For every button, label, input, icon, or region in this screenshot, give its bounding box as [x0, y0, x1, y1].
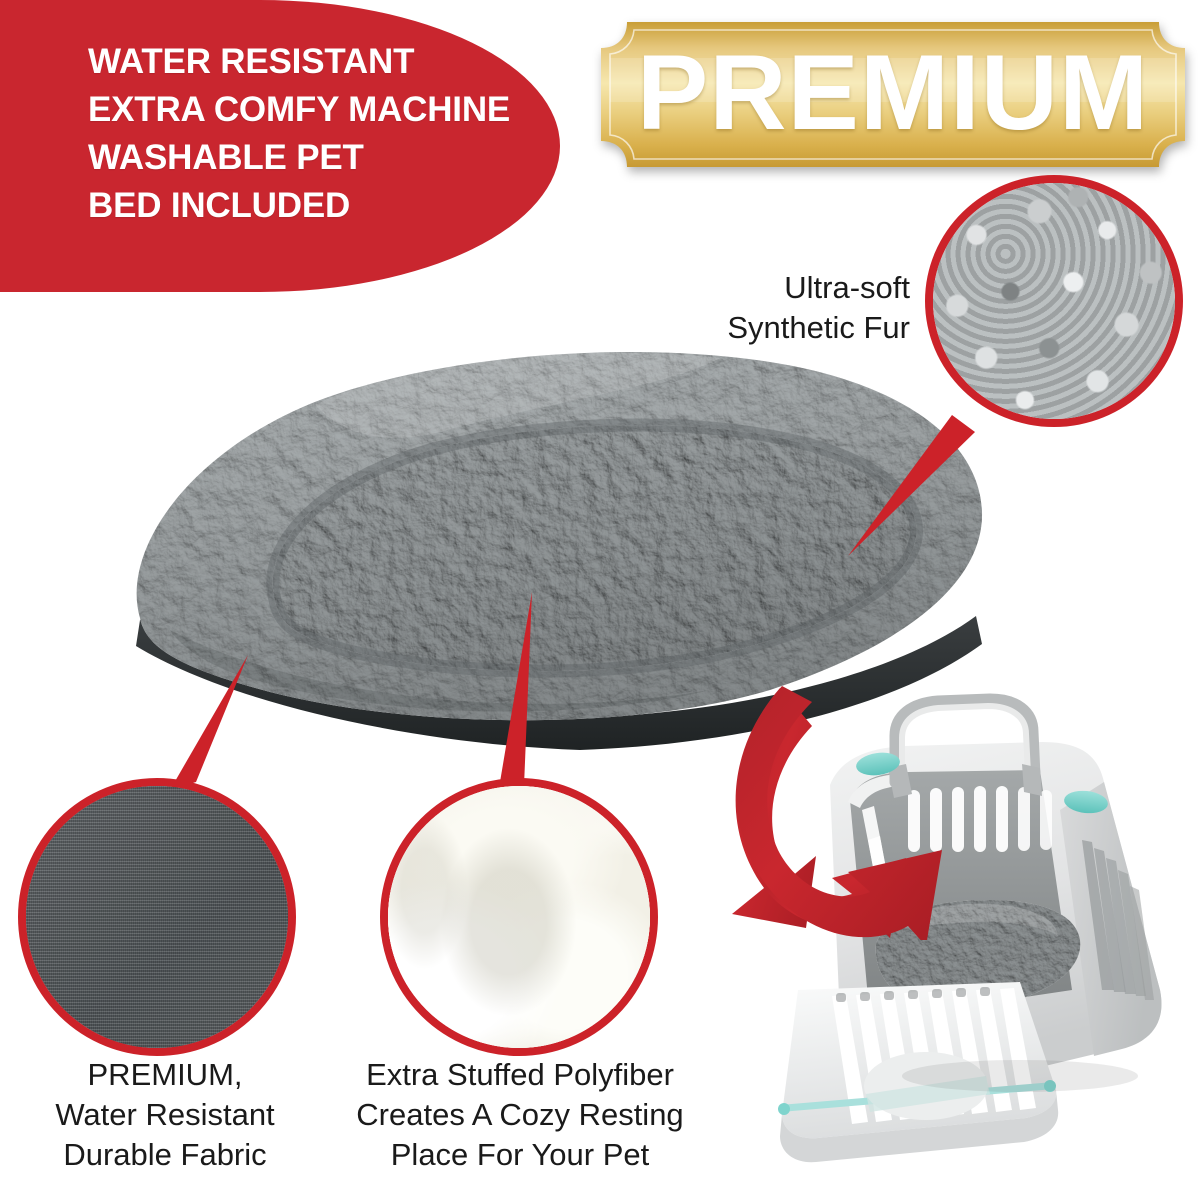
fill-caption-line-2: Creates A Cozy Resting [330, 1095, 710, 1135]
fill-callout-caption: Extra Stuffed Polyfiber Creates A Cozy R… [330, 1055, 710, 1175]
headline-banner-text: WATER RESISTANT EXTRA COMFY MACHINE WASH… [88, 38, 608, 230]
leader-line-fur [848, 415, 975, 556]
leader-line-fill [500, 592, 532, 786]
fabric-callout-caption: PREMIUM, Water Resistant Durable Fabric [0, 1055, 330, 1175]
fur-swatch-texture [933, 183, 1175, 419]
headline-line-4: BED INCLUDED [88, 182, 608, 230]
fill-swatch-shading [388, 786, 650, 1048]
fabric-caption-line-3: Durable Fabric [0, 1135, 330, 1175]
leader-line-fabric [170, 655, 248, 790]
red-curved-arrow [720, 680, 980, 940]
fill-caption-line-3: Place For Your Pet [330, 1135, 710, 1175]
callout-circle-fur [925, 175, 1183, 427]
headline-line-2: EXTRA COMFY MACHINE [88, 86, 608, 134]
fabric-caption-line-1: PREMIUM, [0, 1055, 330, 1095]
fur-caption-line-2: Synthetic Fur [620, 308, 910, 348]
fabric-swatch-texture [26, 786, 288, 1048]
fabric-caption-line-2: Water Resistant [0, 1095, 330, 1135]
fur-callout-caption: Ultra-soft Synthetic Fur [620, 268, 910, 348]
infographic-canvas: Ultra-soft Synthetic Fur PREMIUM, Water … [0, 0, 1200, 1200]
fill-caption-line-1: Extra Stuffed Polyfiber [330, 1055, 710, 1095]
callout-circle-fill [380, 778, 658, 1056]
headline-line-1: WATER RESISTANT [88, 38, 608, 86]
callout-circle-fabric [18, 778, 296, 1056]
fur-caption-line-1: Ultra-soft [620, 268, 910, 308]
premium-badge-label: PREMIUM [601, 22, 1185, 167]
premium-badge: PREMIUM [601, 22, 1185, 167]
headline-line-3: WASHABLE PET [88, 134, 608, 182]
